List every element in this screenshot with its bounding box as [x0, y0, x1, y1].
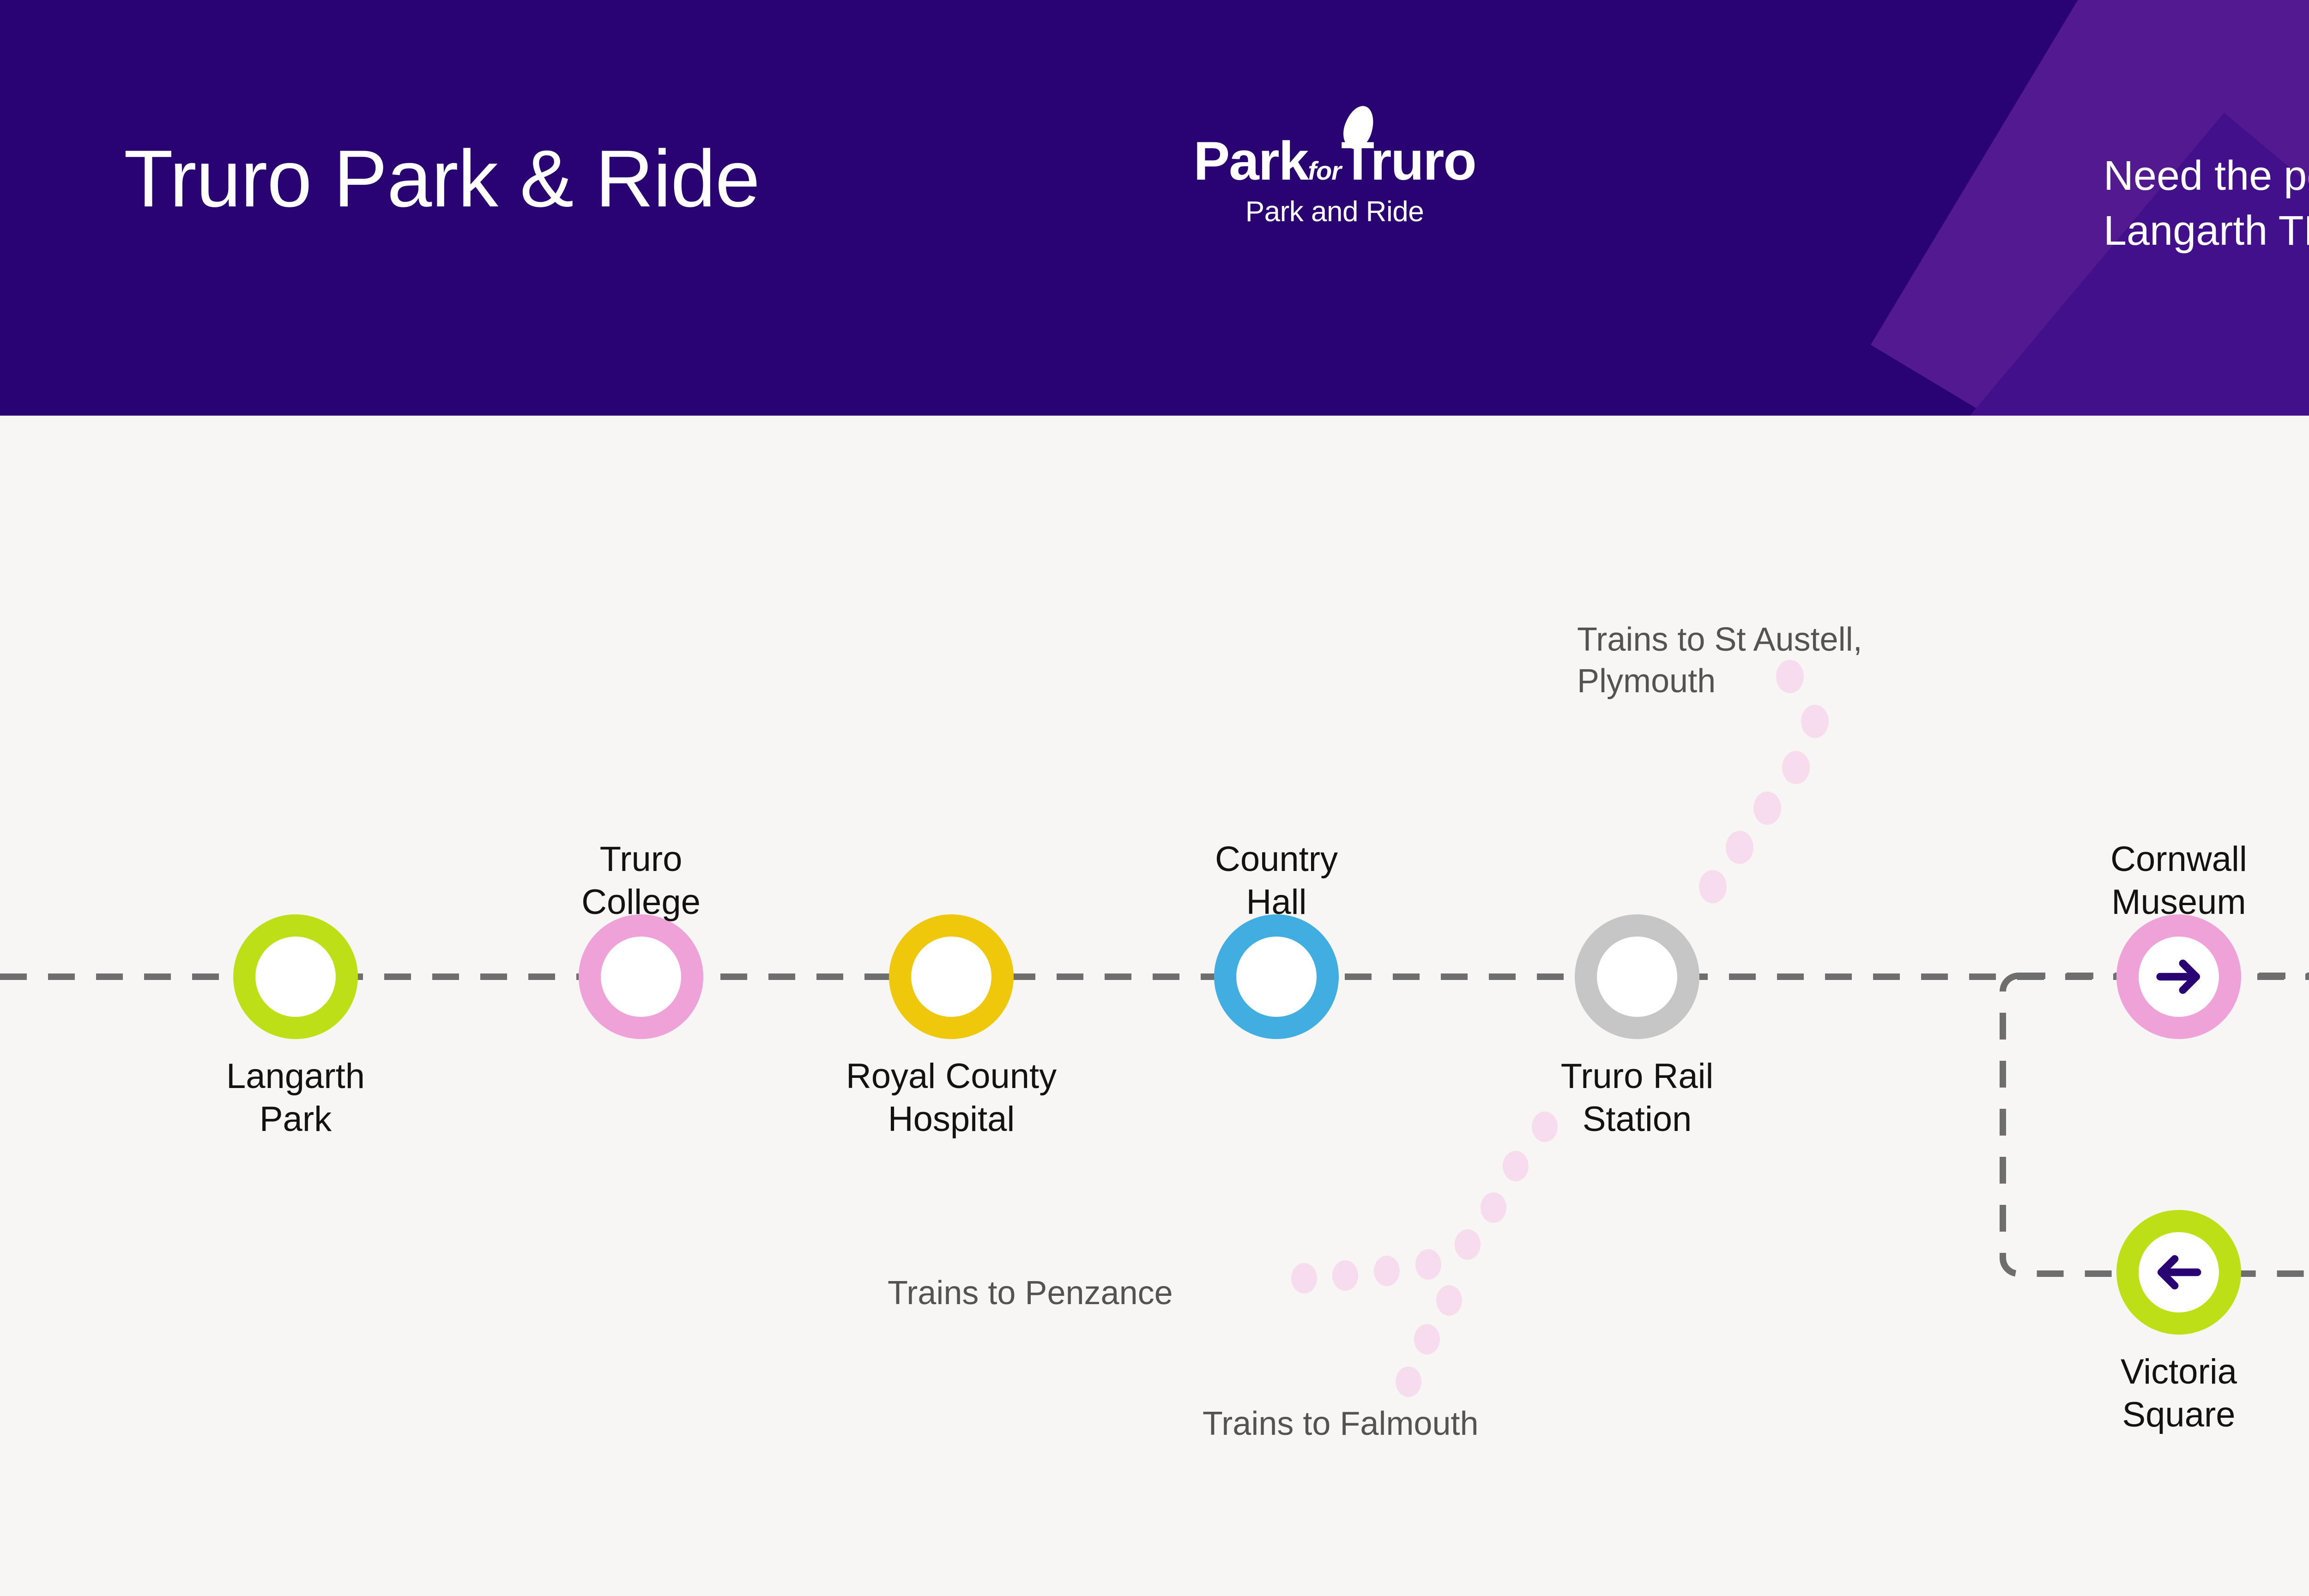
satnav-question: Need the postcodes for your Sat Nav?: [2103, 149, 2309, 204]
station-label-truro-college: Truro College: [581, 838, 701, 924]
route-map: Langarth Park Truro College Royal County…: [0, 416, 2309, 1596]
station-label-cornwall-museum: Cornwall Museum: [2110, 838, 2247, 924]
rail-branch-falmouth-icon: [1396, 1285, 1462, 1397]
station-cornwall-museum[interactable]: [2116, 914, 2241, 1039]
station-label-langarth-park: Langarth Park: [226, 1055, 365, 1141]
satnav-postcodes-block: Need the postcodes for your Sat Nav? Lan…: [2103, 149, 2309, 259]
station-label-royal-county-hospital: Royal County Hospital: [846, 1055, 1057, 1141]
rail-branch-penzance-icon: [1291, 1112, 1558, 1294]
station-truro-college[interactable]: [579, 914, 703, 1039]
logo-subtitle: Park and Ride: [1104, 198, 1566, 226]
page-title: Truro Park & Ride: [124, 139, 760, 219]
station-label-victoria-square: Victoria Square: [2121, 1351, 2237, 1436]
logo-word-park: Park: [1193, 131, 1308, 192]
satnav-postcodes: Langarth TR4 9ANTregurra TR1 1RH: [2103, 204, 2309, 259]
station-label-truro-rail-station: Truro Rail Station: [1561, 1055, 1714, 1141]
rail-label-penzance: Trains to Penzance: [888, 1272, 1173, 1314]
rail-label-st-austell-plymouth: Trains to St Austell, Plymouth: [1577, 619, 1862, 702]
station-truro-rail-station[interactable]: [1575, 914, 1699, 1039]
logo-word-for: for: [1308, 156, 1341, 185]
station-label-country-hall: Country Hall: [1215, 838, 1338, 924]
station-country-hall[interactable]: [1214, 914, 1339, 1039]
arrow-left-icon: [2150, 1243, 2208, 1301]
station-royal-county-hospital[interactable]: [889, 914, 1014, 1039]
station-victoria-square[interactable]: [2116, 1210, 2241, 1335]
page-header: Truro Park & Ride ParkforTruro Park and …: [0, 0, 2309, 416]
station-langarth-park[interactable]: [233, 914, 358, 1039]
postcode-langarth: Langarth TR4 9AN: [2103, 208, 2309, 254]
arrow-right-icon: [2150, 948, 2208, 1006]
park-for-truro-logo: ParkforTruro Park and Ride: [1104, 134, 1566, 226]
logo-wordmark: ParkforTruro: [1104, 134, 1566, 188]
rail-label-falmouth: Trains to Falmouth: [1203, 1403, 1479, 1445]
